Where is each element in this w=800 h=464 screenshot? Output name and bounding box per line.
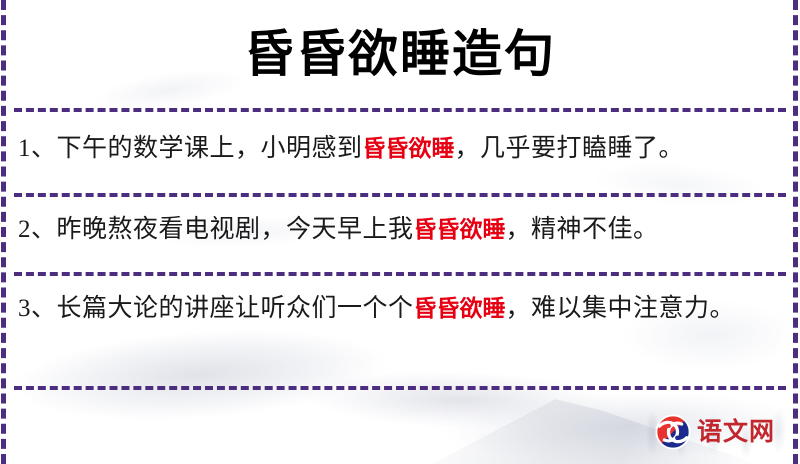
worksheet-page: 昏昏欲睡造句 1、下午的数学课上，小明感到昏昏欲睡，几乎要打瞌睡了。 2、昨晚熬… (0, 0, 800, 464)
yuwen-circle-logo-icon (655, 414, 691, 450)
sentence-text-after: ，难以集中注意力。 (506, 295, 736, 322)
sentence-text-before: 下午的数学课上，小明感到 (57, 135, 363, 162)
highlighted-idiom: 昏昏欲睡 (363, 136, 455, 162)
watermark-hill-center (249, 348, 672, 453)
sentence-index: 2、 (18, 216, 57, 243)
list-item: 3、长篇大论的讲座让听众们一个个昏昏欲睡，难以集中注意力。 (18, 286, 778, 332)
highlighted-idiom: 昏昏欲睡 (414, 296, 506, 322)
sentence-index: 1、 (18, 135, 57, 162)
divider-after-sentence-2 (14, 272, 786, 276)
dashed-border-left (1, 0, 6, 464)
divider-after-sentence-3 (14, 386, 786, 390)
sentence-text-after: ，几乎要打瞌睡了。 (455, 135, 685, 162)
highlighted-idiom: 昏昏欲睡 (414, 217, 506, 243)
sentence-text-before: 长篇大论的讲座让听众们一个个 (57, 295, 414, 322)
list-item: 2、昨晚熬夜看电视剧，今天早上我昏昏欲睡，精神不佳。 (18, 207, 778, 253)
divider-below-title (14, 108, 786, 112)
page-title: 昏昏欲睡造句 (0, 18, 800, 90)
sentence-text-after: ，精神不佳。 (506, 216, 659, 243)
sentence-text-before: 昨晚熬夜看电视剧，今天早上我 (57, 216, 414, 243)
list-item: 1、下午的数学课上，小明感到昏昏欲睡，几乎要打瞌睡了。 (18, 126, 778, 172)
sentence-index: 3、 (18, 295, 57, 322)
dashed-border-right (793, 0, 798, 464)
site-logo-text: 语文网 (697, 414, 775, 450)
divider-after-sentence-1 (14, 193, 786, 197)
site-watermark-logo: 语文网 (655, 414, 775, 450)
